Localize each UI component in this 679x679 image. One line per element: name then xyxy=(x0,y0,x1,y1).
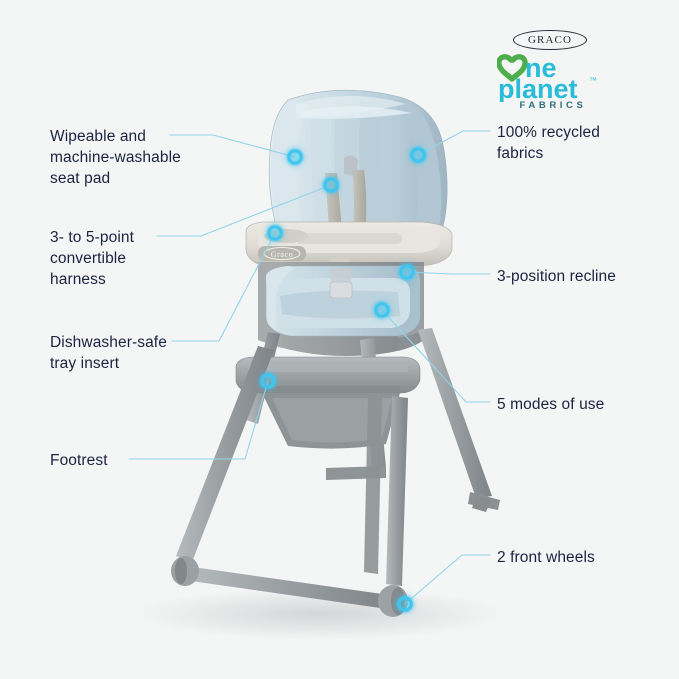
graco-wordmark: GRACO xyxy=(528,34,572,45)
infographic-canvas: Graco xyxy=(0,0,679,679)
chair-frame xyxy=(171,328,500,617)
callout-label-dishwasher-safe-tray: Dishwasher-safe tray insert xyxy=(50,332,167,374)
front-left-leg xyxy=(176,346,274,562)
callout-label-footrest: Footrest xyxy=(50,450,108,471)
front-wheel-left xyxy=(171,556,199,586)
callout-label-convertible-harness: 3- to 5-point convertible harness xyxy=(50,227,134,290)
graco-logo: GRACO xyxy=(513,30,587,50)
callout-label-two-front-wheels: 2 front wheels xyxy=(497,547,595,568)
front-wheel-right xyxy=(378,585,408,617)
one-planet-wordmark: ne planet ™ xyxy=(497,50,605,102)
one-planet-fabrics-logo: GRACO ne planet ™ FABRICS xyxy=(497,30,605,115)
callout-label-three-position-recline: 3-position recline xyxy=(497,266,616,287)
callout-label-five-modes-of-use: 5 modes of use xyxy=(497,394,604,415)
callout-label-wipeable-seat-pad: Wipeable and machine-washable seat pad xyxy=(50,126,181,189)
fabrics-tagline: FABRICS xyxy=(501,100,605,111)
seat-bottom-pad xyxy=(266,266,420,336)
callout-label-recycled-fabrics: 100% recycled fabrics xyxy=(497,122,600,164)
svg-text:Graco: Graco xyxy=(271,250,294,259)
svg-text:planet: planet xyxy=(498,74,578,102)
svg-text:™: ™ xyxy=(589,76,597,85)
